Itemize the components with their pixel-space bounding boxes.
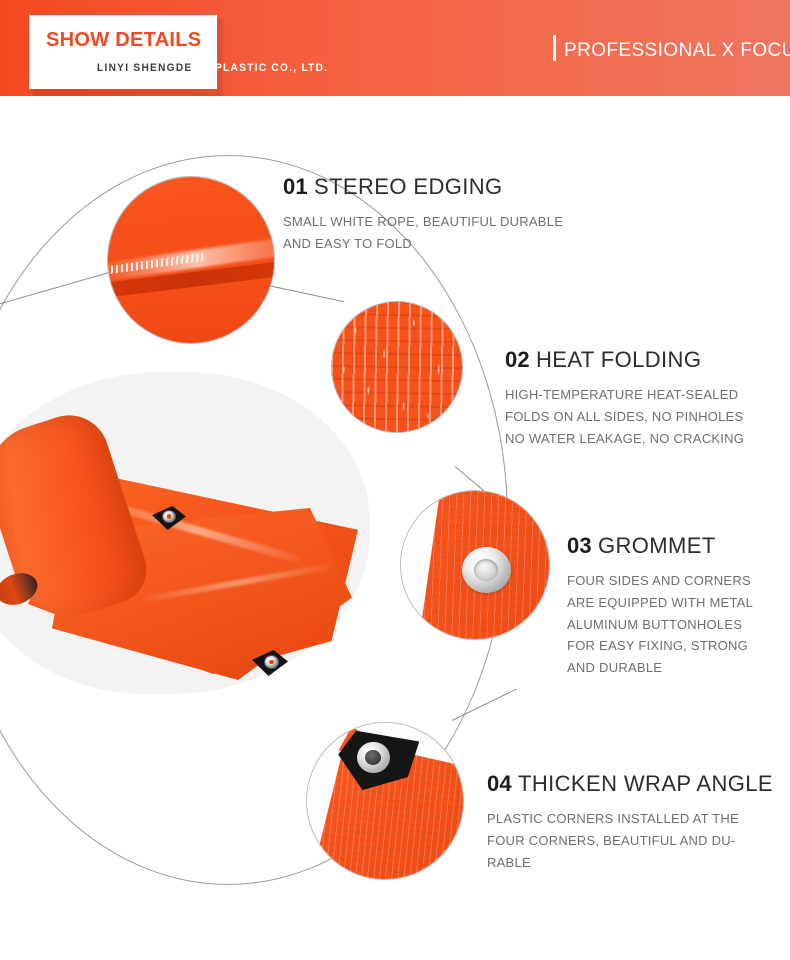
company-name-light: PLASTIC CO., LTD.: [215, 62, 328, 74]
desc-line: ALUMINUM BUTTONHOLES: [567, 614, 753, 636]
header-title: SHOW DETAILS: [46, 29, 201, 52]
desc-line: FOLDS ON ALL SIDES, NO PINHOLES: [505, 406, 744, 428]
feature-heading-2: 02 HEAT FOLDING: [505, 349, 744, 371]
feature-block-2: 02 HEAT FOLDING HIGH-TEMPERATURE HEAT-SE…: [505, 349, 744, 449]
feature-description-3: FOUR SIDES AND CORNERS ARE EQUIPPED WITH…: [567, 570, 753, 679]
feature-title-1: STEREO EDGING: [314, 174, 503, 199]
grommet-top: [162, 510, 176, 523]
desc-line: SMALL WHITE ROPE, BEAUTIFUL DURABLE: [283, 211, 563, 233]
grommet-bottom: [264, 655, 279, 669]
header-tagline: PROFESSIONAL X FOCUS: [564, 40, 790, 62]
feature-description-2: HIGH-TEMPERATURE HEAT-SEALED FOLDS ON AL…: [505, 384, 744, 449]
feature-heading-1: 01 STEREO EDGING: [283, 176, 563, 198]
header-banner: SHOW DETAILS LINYI SHENGDE PLASTIC CO., …: [0, 0, 790, 96]
detail-photo-4: [306, 722, 464, 880]
desc-line: FOUR SIDES AND CORNERS: [567, 570, 753, 592]
desc-line: RABLE: [487, 852, 773, 874]
feature-description-1: SMALL WHITE ROPE, BEAUTIFUL DURABLE AND …: [283, 211, 563, 255]
infographic-page: SHOW DETAILS LINYI SHENGDE PLASTIC CO., …: [0, 0, 790, 960]
feature-block-4: 04 THICKEN WRAP ANGLE PLASTIC CORNERS IN…: [487, 773, 773, 873]
feature-number-4: 04: [487, 771, 512, 796]
feature-heading-4: 04 THICKEN WRAP ANGLE: [487, 773, 773, 795]
feature-title-2: HEAT FOLDING: [536, 347, 701, 372]
feature-title-4: THICKEN WRAP ANGLE: [518, 771, 773, 796]
weave-highlights: [332, 302, 462, 432]
logo-box: [29, 15, 217, 89]
feature-block-1: 01 STEREO EDGING SMALL WHITE ROPE, BEAUT…: [283, 176, 563, 255]
feature-block-3: 03 GROMMET FOUR SIDES AND CORNERS ARE EQ…: [567, 535, 753, 679]
desc-line: PLASTIC CORNERS INSTALLED AT THE: [487, 808, 773, 830]
desc-line: ARE EQUIPPED WITH METAL: [567, 592, 753, 614]
detail-photo-3: [400, 490, 550, 640]
metal-grommet-icon: [462, 547, 511, 593]
feature-number-3: 03: [567, 533, 592, 558]
desc-line: HIGH-TEMPERATURE HEAT-SEALED: [505, 384, 744, 406]
feature-title-3: GROMMET: [598, 533, 716, 558]
tagline-divider: [553, 35, 556, 61]
company-name-dark: LINYI SHENGDE: [97, 62, 192, 74]
corner-grommet-icon: [357, 742, 390, 773]
feature-heading-3: 03 GROMMET: [567, 535, 753, 557]
desc-line: FOR EASY FIXING, STRONG: [567, 635, 753, 657]
feature-number-2: 02: [505, 347, 530, 372]
desc-line: AND EASY TO FOLD: [283, 233, 563, 255]
feature-description-4: PLASTIC CORNERS INSTALLED AT THE FOUR CO…: [487, 808, 773, 873]
detail-photo-1: [107, 176, 275, 344]
feature-number-1: 01: [283, 174, 308, 199]
desc-line: AND DURABLE: [567, 657, 753, 679]
detail-photo-2: [331, 301, 463, 433]
desc-line: FOUR CORNERS, BEAUTIFUL AND DU-: [487, 830, 773, 852]
product-photo: [0, 398, 364, 710]
desc-line: NO WATER LEAKAGE, NO CRACKING: [505, 428, 744, 450]
